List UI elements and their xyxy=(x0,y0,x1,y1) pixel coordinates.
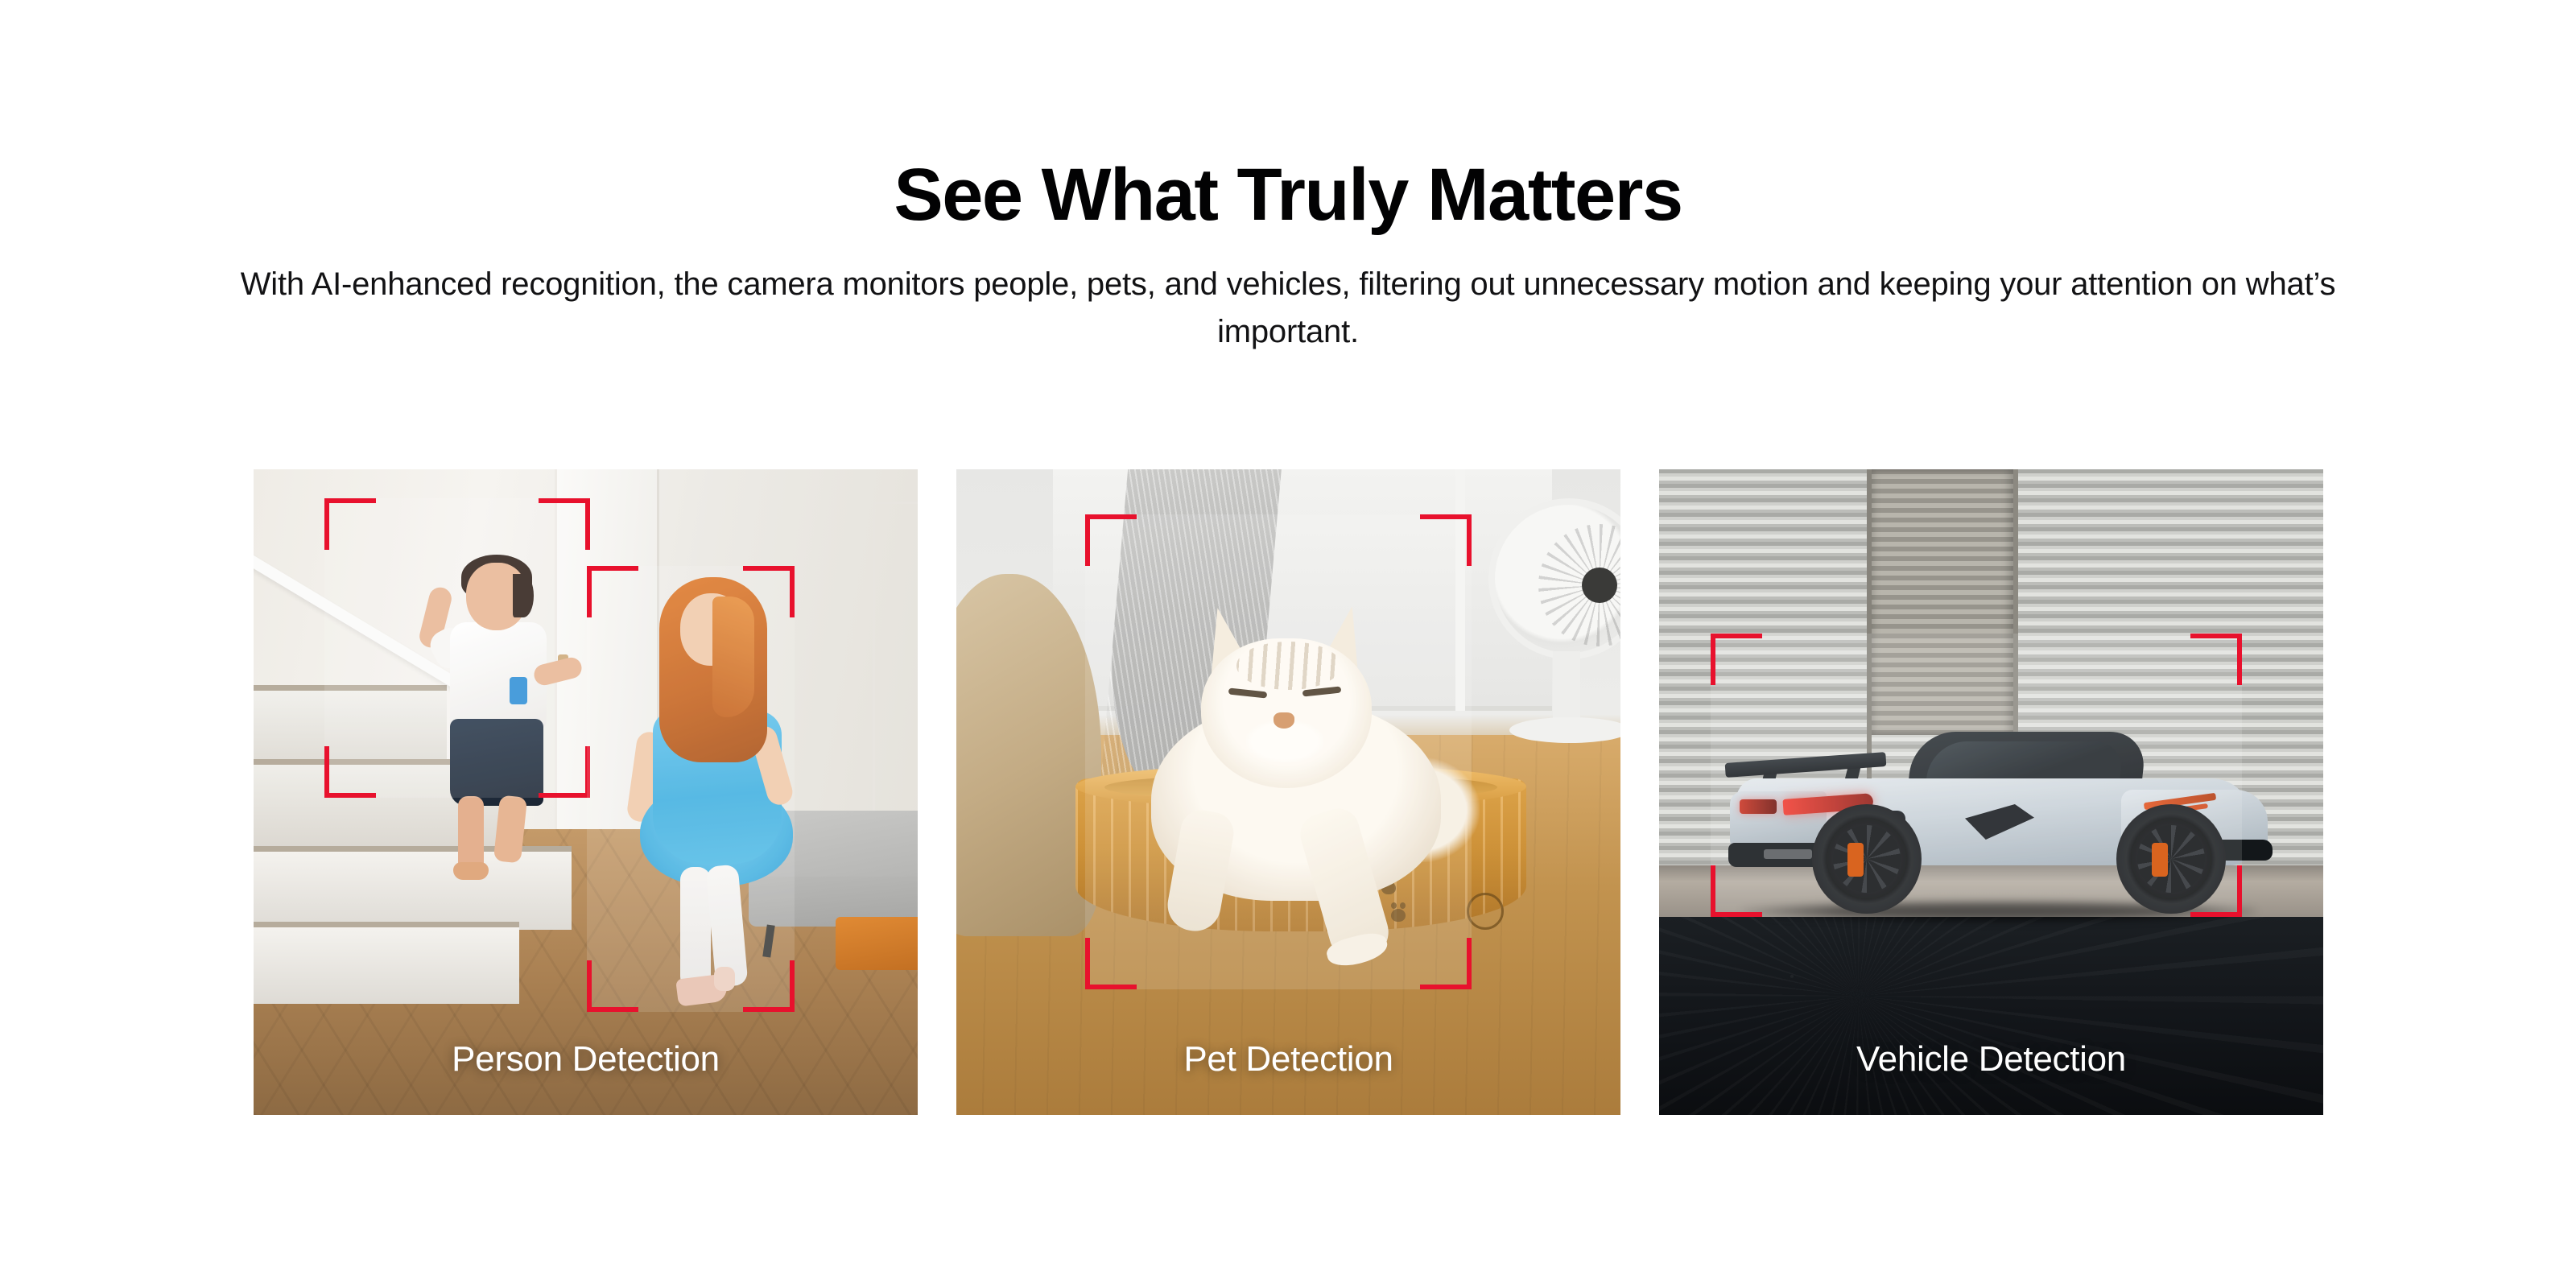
card-caption-person: Person Detection xyxy=(254,1039,918,1080)
vehicle-scene-image xyxy=(1659,469,2323,1115)
detection-card-grid: Person Detection xyxy=(254,469,2324,1115)
page-title: See What Truly Matters xyxy=(0,158,2576,232)
detection-card-person[interactable]: Person Detection xyxy=(254,469,918,1115)
detection-card-vehicle[interactable]: Vehicle Detection xyxy=(1659,469,2323,1115)
card-caption-vehicle: Vehicle Detection xyxy=(1659,1039,2323,1080)
section-subtitle: With AI-enhanced recognition, the camera… xyxy=(201,261,2375,356)
ai-detection-section: See What Truly Matters With AI-enhanced … xyxy=(0,0,2576,1288)
pet-scene-image xyxy=(956,469,1620,1115)
section-header: See What Truly Matters With AI-enhanced … xyxy=(0,0,2576,356)
detection-card-pet[interactable]: Pet Detection xyxy=(956,469,1620,1115)
person-scene-image xyxy=(254,469,918,1115)
card-caption-pet: Pet Detection xyxy=(956,1039,1620,1080)
